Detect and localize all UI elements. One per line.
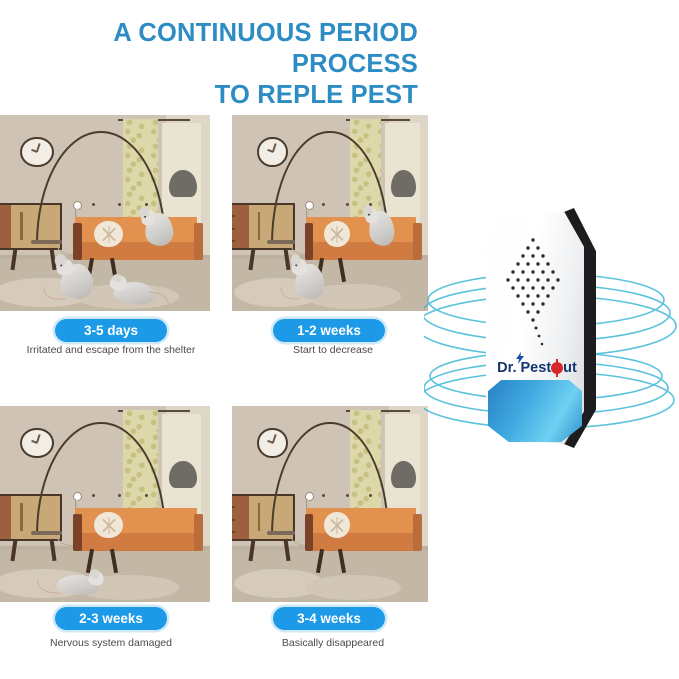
lightning-bolt-icon: [515, 352, 525, 364]
device-illustration: Dr. Pestut: [424, 180, 679, 500]
pest-repeller-device: Dr. Pestut: [486, 208, 606, 453]
stage-caption-3: Nervous system damaged: [8, 637, 214, 649]
lamp-shade: [169, 170, 197, 197]
mouse: [293, 263, 326, 301]
device-base: [488, 380, 582, 442]
page-title-line2: TO REPLE PEST: [0, 80, 418, 111]
mouse: [58, 262, 94, 300]
mouse: [367, 209, 397, 247]
mouse: [113, 279, 156, 305]
stage-badge-4: 3-4 weeks: [273, 607, 385, 630]
speaker-grille: [500, 234, 566, 352]
bottom-margin: [0, 665, 679, 679]
sofa-cushion: [94, 221, 122, 247]
infographic-canvas: A CONTINUOUS PERIOD PROCESS TO REPLE PES…: [0, 0, 679, 679]
wall-clock-icon: [257, 137, 287, 167]
sofa-seat: [75, 242, 197, 260]
brand-main-a: Pest: [521, 360, 552, 376]
mouse: [57, 573, 100, 595]
page-title: A CONTINUOUS PERIOD PROCESS TO REPLE PES…: [0, 18, 418, 111]
sofa-arm-right: [194, 223, 204, 260]
lamp-base: [31, 240, 62, 244]
sofa-back: [75, 217, 197, 242]
stage-caption-1: Irritated and escape from the shelter: [8, 344, 214, 356]
stage-caption-2: Start to decrease: [230, 344, 436, 356]
wall-clock-icon: [257, 428, 287, 458]
scene-panel-stage-4: [232, 406, 428, 602]
brand-main-b: ut: [563, 360, 577, 376]
page-title-line1: A CONTINUOUS PERIOD PROCESS: [0, 18, 418, 80]
brand-logo: Dr. Pestut: [488, 360, 586, 376]
brand-o-mark-icon: [551, 362, 563, 374]
brand-prefix: Dr.: [497, 360, 516, 376]
scene-panel-stage-3: [0, 406, 210, 602]
wall-clock-icon: [20, 137, 53, 167]
scene-panel-stage-1: [0, 115, 210, 311]
mouse: [142, 211, 175, 248]
scene-panel-stage-2: [232, 115, 428, 311]
stage-caption-4: Basically disappeared: [230, 637, 436, 649]
sofa-arm-left: [73, 223, 83, 260]
stage-badge-2: 1-2 weeks: [273, 319, 385, 342]
wall-clock-icon: [20, 428, 53, 458]
stage-badge-3: 2-3 weeks: [55, 607, 167, 630]
stage-badge-1: 3-5 days: [55, 319, 167, 342]
